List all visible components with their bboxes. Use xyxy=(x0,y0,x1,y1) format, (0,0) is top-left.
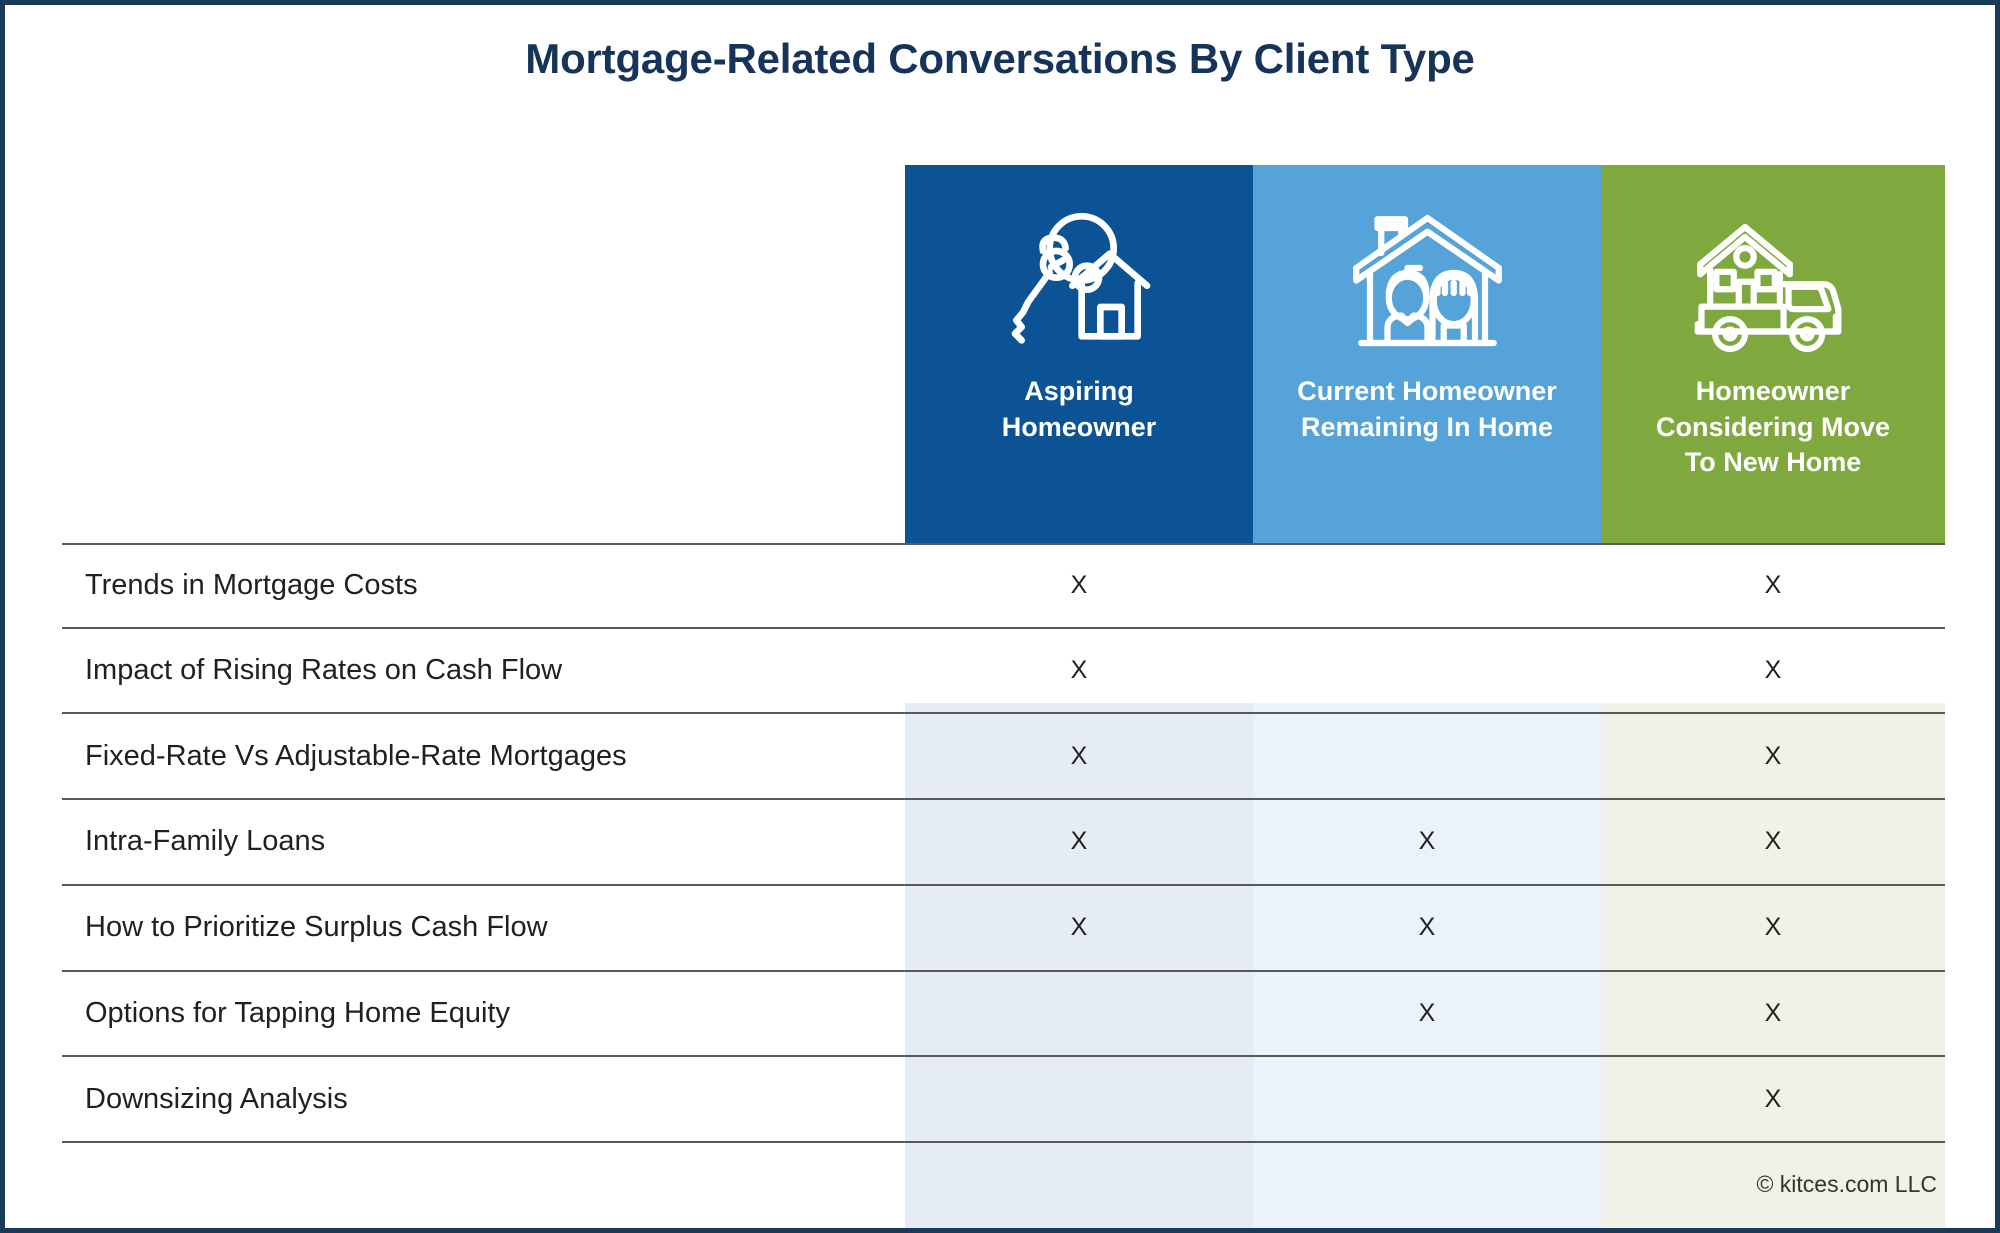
row-label: Options for Tapping Home Equity xyxy=(62,997,905,1030)
column-aspiring-homeowner: Aspiring Homeowner xyxy=(905,165,1253,543)
cell-considering-move: X xyxy=(1601,913,1945,942)
cell-aspiring-homeowner: X xyxy=(905,656,1253,685)
table-row: Impact of Rising Rates on Cash Flow X X xyxy=(62,629,1945,715)
row-label: Impact of Rising Rates on Cash Flow xyxy=(62,654,905,687)
cell-considering-move: X xyxy=(1601,827,1945,856)
cell-considering-move: X xyxy=(1601,1085,1945,1114)
house-key-icon xyxy=(979,195,1179,370)
column-label-line-2: Homeowner xyxy=(1002,412,1157,442)
table-row: Options for Tapping Home Equity X X xyxy=(62,972,1945,1058)
table-row: Intra-Family Loans X X X xyxy=(62,800,1945,886)
cell-aspiring-homeowner: X xyxy=(905,827,1253,856)
column-header-current-homeowner: Current Homeowner Remaining In Home xyxy=(1253,165,1601,543)
row-label: How to Prioritize Surplus Cash Flow xyxy=(62,911,905,944)
row-label: Intra-Family Loans xyxy=(62,825,905,858)
page-title: Mortgage-Related Conversations By Client… xyxy=(5,35,1995,83)
house-with-couple-icon xyxy=(1327,195,1527,370)
row-label: Trends in Mortgage Costs xyxy=(62,569,905,602)
column-label-considering-move: Homeowner Considering Move To New Home xyxy=(1650,374,1896,481)
infographic-root: Mortgage-Related Conversations By Client… xyxy=(0,0,2000,1233)
column-header-considering-move: Homeowner Considering Move To New Home xyxy=(1601,165,1945,543)
row-label: Fixed-Rate Vs Adjustable-Rate Mortgages xyxy=(62,740,905,773)
cell-current-homeowner: X xyxy=(1253,913,1601,942)
row-label: Downsizing Analysis xyxy=(62,1083,905,1116)
cell-considering-move: X xyxy=(1601,571,1945,600)
table-row: How to Prioritize Surplus Cash Flow X X … xyxy=(62,886,1945,972)
column-label-line-1: Aspiring xyxy=(1024,376,1134,406)
matrix-table: Trends in Mortgage Costs X X Impact of R… xyxy=(62,543,1945,1143)
column-considering-move: Homeowner Considering Move To New Home xyxy=(1601,165,1945,543)
cell-current-homeowner: X xyxy=(1253,999,1601,1028)
cell-aspiring-homeowner: X xyxy=(905,742,1253,771)
cell-considering-move: X xyxy=(1601,742,1945,771)
cell-considering-move: X xyxy=(1601,999,1945,1028)
column-label-line-3: To New Home xyxy=(1685,447,1862,477)
table-row: Downsizing Analysis X xyxy=(62,1057,1945,1143)
column-label-line-1: Current Homeowner xyxy=(1297,376,1557,406)
column-header-aspiring-homeowner: Aspiring Homeowner xyxy=(905,165,1253,543)
column-label-aspiring-homeowner: Aspiring Homeowner xyxy=(996,374,1163,445)
cell-aspiring-homeowner: X xyxy=(905,913,1253,942)
cell-aspiring-homeowner: X xyxy=(905,571,1253,600)
column-label-line-1: Homeowner xyxy=(1696,376,1851,406)
table-row: Fixed-Rate Vs Adjustable-Rate Mortgages … xyxy=(62,714,1945,800)
cell-considering-move: X xyxy=(1601,656,1945,685)
table-row: Trends in Mortgage Costs X X xyxy=(62,543,1945,629)
column-label-line-2: Considering Move xyxy=(1656,412,1890,442)
column-label-current-homeowner: Current Homeowner Remaining In Home xyxy=(1291,374,1563,445)
column-label-line-2: Remaining In Home xyxy=(1301,412,1553,442)
column-current-homeowner: Current Homeowner Remaining In Home xyxy=(1253,165,1601,543)
copyright-footer: © kitces.com LLC xyxy=(1756,1171,1937,1198)
house-moving-truck-icon xyxy=(1673,195,1873,370)
cell-current-homeowner: X xyxy=(1253,827,1601,856)
